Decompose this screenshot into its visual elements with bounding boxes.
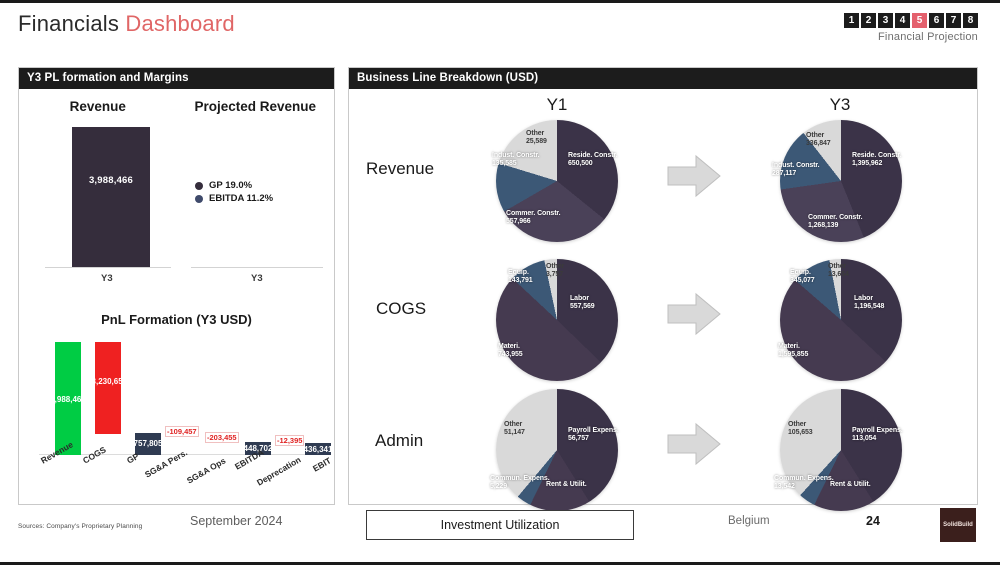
pie-admin-y1-label-payroll: Payroll Expens.56,757 [568,427,619,442]
pie-admin-y3[interactable]: Payroll Expens.113,054 Rent & Utilit. Co… [780,389,902,511]
row-label-cogs: COGS [376,299,426,319]
pie-admin-y3-label-other: Other105,653 [788,421,813,436]
pie-cogs-y1-label-other: Other3,757 [546,263,564,278]
legend-dot-ebitda [195,195,203,203]
pie-revenue-y3-label-other: Other336,847 [806,132,831,147]
revenue-axis-right [191,267,323,268]
pie-cogs-y1-label-materi: Materi.743,955 [498,343,523,358]
pie-cogs-y3-label-materi: Materi.1,595,855 [778,343,808,358]
waterfall-plot-area: 3,988,466 -3,230,659 757,805 -109,457 -2… [33,331,326,455]
column-header-y1: Y1 [487,95,627,115]
pie-admin-y1-label-other: Other51,147 [504,421,525,436]
footer-page-number: 24 [866,514,880,528]
pager-page-8[interactable]: 8 [963,13,978,28]
pie-admin-y3-label-payroll: Payroll Expens.113,054 [852,427,903,442]
pie-admin-y1-graphic [496,389,618,511]
slide-footer: Sources: Company's Proprietary Planning … [0,502,1000,562]
waterfall-label-cogs: -3,230,659 [89,377,127,386]
revenue-axis-left [45,267,171,268]
legend-label-ebitda: EBITDA 11.2% [209,193,273,204]
pnl-waterfall-chart: PnL Formation (Y3 USD) 3,988,466 -3,230,… [19,312,334,508]
row-label-admin: Admin [375,431,423,451]
page-title-accent: Dashboard [125,11,234,36]
page-header: Financials Dashboard [18,11,235,37]
footer-source-note: Sources: Company's Proprietary Planning [18,523,142,530]
pie-cogs-y3-label-labor: Labor1,196,548 [854,295,884,310]
waterfall-bar-gp[interactable]: 757,805 [135,433,161,455]
panel-right-header: Business Line Breakdown (USD) [349,68,977,89]
waterfall-cat-ebit: EBIT [311,455,333,473]
projected-xtick-y3: Y3 [251,273,263,284]
pie-revenue-y3-label-commer: Commer. Constr.1,268,139 [808,214,863,229]
pager-page-3[interactable]: 3 [878,13,893,28]
revenue-bar-value-label: 3,988,466 [89,175,133,186]
margins-legend: GP 19.0% EBITDA 11.2% [195,180,273,206]
breakdown-grid: Y1 Y3 Revenue COGS Admin Reside. Constr.… [348,91,978,505]
footer-country: Belgium [728,515,770,527]
pie-revenue-y3[interactable]: Reside. Constr.1,395,962 Commer. Constr.… [780,120,902,242]
company-logo-text: SolidBuild [943,522,973,528]
waterfall-label-gp: 757,805 [134,439,163,448]
panel-pl-formation: Y3 PL formation and Margins Revenue Proj… [18,67,335,505]
section-pager: 1 2 3 4 5 6 7 8 Financial Projection [844,13,978,43]
pie-revenue-y1-label-commer: Commer. Constr.557,966 [506,210,561,225]
page-title-primary: Financials [18,11,119,36]
legend-label-gp: GP 19.0% [209,180,252,191]
waterfall-label-ebit: 436,341 [304,445,333,454]
company-logo: SolidBuild [940,508,976,542]
waterfall-label-revenue: 3,988,466 [50,395,86,404]
arrow-right-icon-admin [666,421,722,467]
panel-left-header: Y3 PL formation and Margins [19,68,334,89]
pager-page-7[interactable]: 7 [946,13,961,28]
page-title: Financials Dashboard [18,11,235,37]
pie-admin-y3-label-commun: Commun. Expens.13,542 [774,475,834,490]
pie-admin-y1-label-commun: Commun. Expens.5,229 [490,475,550,490]
pie-cogs-y1-label-labor: Labor557,569 [570,295,595,310]
legend-item-gp: GP 19.0% [195,180,273,191]
pager-page-6[interactable]: 6 [929,13,944,28]
pie-revenue-y1[interactable]: Reside. Constr.650,500 Commer. Constr.55… [496,120,618,242]
revenue-chart-title: Revenue [19,99,177,114]
pager-page-5-active[interactable]: 5 [912,13,927,28]
legend-item-ebitda: EBITDA 11.2% [195,193,273,204]
revenue-bar-titles: Revenue Projected Revenue [19,89,334,114]
projected-revenue-title: Projected Revenue [177,99,335,114]
slide: Financials Dashboard 1 2 3 4 5 6 7 8 Fin… [0,0,1000,565]
pager-page-2[interactable]: 2 [861,13,876,28]
revenue-bar-chart: Revenue Projected Revenue 3,988,466 Y3 Y… [19,89,334,294]
waterfall-bar-revenue[interactable]: 3,988,466 [55,342,81,455]
pager-page-1[interactable]: 1 [844,13,859,28]
pie-admin-y1[interactable]: Payroll Expens.56,757 Rent & Utilit. Com… [496,389,618,511]
waterfall-label-sga-pers: -109,457 [165,426,199,437]
pager-page-4[interactable]: 4 [895,13,910,28]
pie-revenue-y1-label-indust: Indust. Constr.135,585 [492,152,540,167]
pie-revenue-y1-label-reside: Reside. Constr.650,500 [568,152,617,167]
arrow-right-icon-revenue [666,153,722,199]
revenue-plot-area: 3,988,466 Y3 Y3 GP 19.0% EBITDA 11.2% [19,118,334,268]
waterfall-title: PnL Formation (Y3 USD) [19,312,334,327]
waterfall-cat-deprecation: Deprecation [255,454,303,487]
pie-cogs-y3[interactable]: Labor1,196,548 Materi.1,595,855 Equip.34… [780,259,902,381]
pager-caption: Financial Projection [844,31,978,43]
arrow-right-icon-cogs [666,291,722,337]
pie-cogs-y3-label-equip: Equip.345,077 [790,269,815,284]
legend-dot-gp [195,182,203,190]
column-header-y3: Y3 [770,95,910,115]
pie-admin-y1-label-rent: Rent & Utilit. [546,481,587,489]
footer-date: September 2024 [190,514,282,528]
pie-admin-y3-label-rent: Rent & Utilit. [830,481,871,489]
waterfall-label-sga-ops: -203,455 [205,432,239,443]
investment-utilization-button[interactable]: Investment Utilization [366,510,634,540]
pie-revenue-y1-label-other: Other25,589 [526,130,547,145]
pie-admin-y3-graphic [780,389,902,511]
pie-revenue-y3-label-reside: Reside. Constr.1,395,962 [852,152,901,167]
revenue-bar-y3[interactable]: 3,988,466 [72,127,150,268]
waterfall-bar-cogs[interactable]: -3,230,659 [95,342,121,434]
revenue-xtick-y3: Y3 [101,273,113,284]
pie-revenue-y3-label-indust: Indust. Constr.287,117 [772,162,820,177]
waterfall-bar-ebit[interactable]: 436,341 [305,443,331,455]
pie-cogs-y1[interactable]: Labor557,569 Materi.743,955 Equip.143,79… [496,259,618,381]
waterfall-cat-sga-ops: SG&A Ops [185,455,227,485]
pie-cogs-y3-label-other: Other13,654 [828,263,849,278]
waterfall-label-deprecation: -12,395 [275,435,304,446]
row-label-revenue: Revenue [366,159,434,179]
pager-boxes: 1 2 3 4 5 6 7 8 [844,13,978,28]
pie-cogs-y1-label-equip: Equip.143,791 [508,269,533,284]
